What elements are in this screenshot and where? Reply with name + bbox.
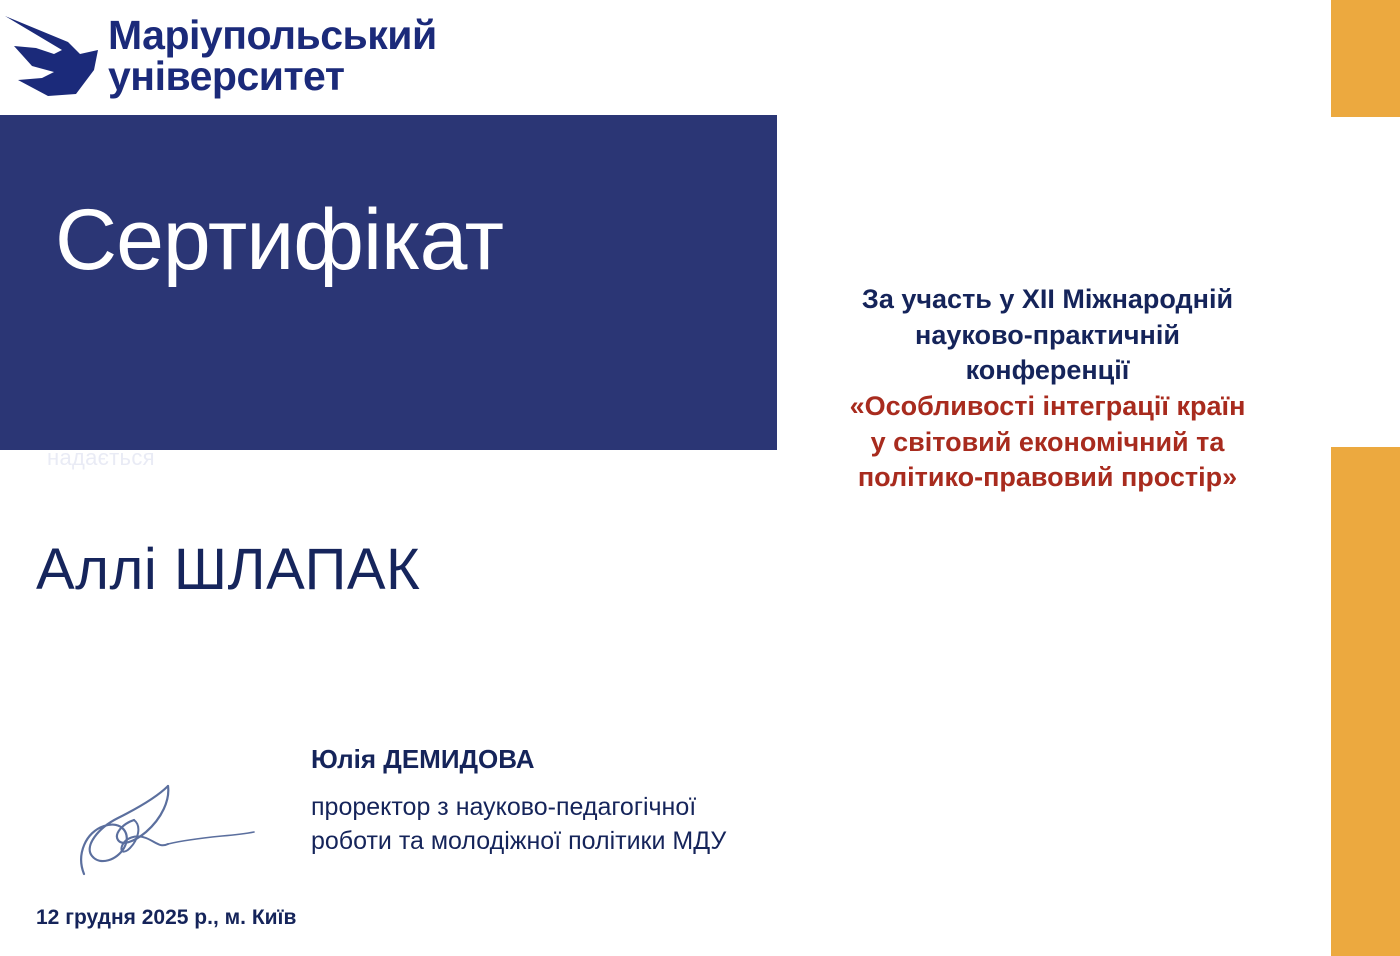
conference-heading-line: За участь у XII Міжнародній	[775, 282, 1320, 318]
wordmark-line-2: університет	[108, 57, 437, 96]
recipient-name: Аллі ШЛАПАК	[36, 541, 420, 599]
conference-topic-line: «Особливості інтеграції країн	[775, 389, 1320, 425]
conference-heading-line: науково-практичній	[775, 318, 1320, 354]
conference-topic: «Особливості інтеграції країн у світовий…	[775, 389, 1320, 496]
conference-block: За участь у XII Міжнародній науково-прак…	[775, 282, 1320, 496]
conference-heading-line: конференції	[775, 353, 1320, 389]
signatory-name: Юлія ДЕМИДОВА	[311, 744, 911, 775]
orange-accent-bar-top	[1331, 0, 1400, 117]
issue-date-place: 12 грудня 2025 р., м. Київ	[36, 906, 296, 930]
wordmark-line-1: Маріупольський	[108, 16, 437, 55]
certificate-subtitle: надається	[47, 445, 155, 471]
conference-heading: За участь у XII Міжнародній науково-прак…	[775, 282, 1320, 389]
university-logo: Маріупольський університет	[0, 0, 470, 112]
orange-accent-bar-bottom	[1331, 447, 1400, 956]
hero-band: Сертифікат надається	[0, 115, 777, 450]
certificate-page: Маріупольський університет Сертифікат на…	[0, 0, 1400, 956]
signatory-role-line: роботи та молодіжної політики МДУ	[311, 825, 911, 859]
conference-topic-line: у світовий економічний та	[775, 425, 1320, 461]
handwritten-signature-icon	[72, 782, 262, 880]
flying-bird-icon	[2, 10, 102, 102]
certificate-title: Сертифікат	[55, 197, 503, 283]
university-wordmark: Маріупольський університет	[108, 16, 437, 96]
signatory-role: проректор з науково-педагогічної роботи …	[311, 791, 911, 858]
conference-topic-line: політико-правовий простір»	[775, 460, 1320, 496]
signatory-role-line: проректор з науково-педагогічної	[311, 791, 911, 825]
signatory-block: Юлія ДЕМИДОВА проректор з науково-педаго…	[311, 744, 911, 858]
